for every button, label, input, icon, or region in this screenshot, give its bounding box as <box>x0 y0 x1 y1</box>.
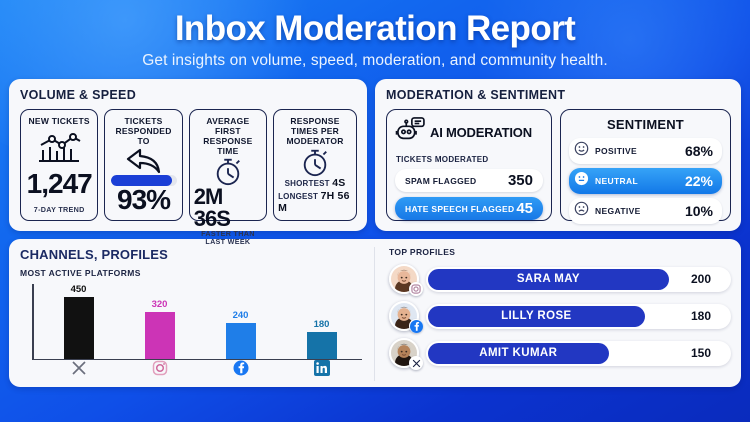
chart-x-labels <box>38 360 362 376</box>
sentiment-card: SENTIMENT POSITIVE 68% <box>560 109 731 221</box>
moderation-sentiment-title: MODERATION & SENTIMENT <box>386 88 731 102</box>
bar <box>145 312 175 359</box>
sentiment-row-positive[interactable]: POSITIVE 68% <box>569 138 722 164</box>
linkedin-icon <box>281 360 362 376</box>
profile-bar[interactable]: AMIT KUMAR150 <box>426 341 731 366</box>
bar-column[interactable]: 320 <box>119 284 200 359</box>
profiles-list: SARA MAY200LILLY ROSE180AMIT KUMAR150 <box>389 264 731 368</box>
reply-arrow-icon <box>122 146 166 174</box>
bar <box>307 332 337 359</box>
response-progress-fill <box>111 175 172 186</box>
smiley-neutral-icon <box>574 171 589 191</box>
profile-bar[interactable]: LILLY ROSE180 <box>426 304 731 329</box>
profile-bar[interactable]: SARA MAY200 <box>426 267 731 292</box>
kpi-tickets-responded-label: TICKETS RESPONDED TO <box>109 116 177 146</box>
profile-value: 180 <box>691 309 711 323</box>
ai-moderation-card: AI MODERATION TICKETS MODERATED SPAM FLA… <box>386 109 552 221</box>
profile-name: AMIT KUMAR <box>428 343 609 364</box>
bar-value-label: 450 <box>71 284 87 295</box>
avatar <box>389 264 419 294</box>
tickets-moderated-label: TICKETS MODERATED <box>396 155 543 164</box>
hate-speech-flagged-value: 45 <box>516 200 533 217</box>
kpi-tickets-responded-value: 93% <box>117 186 170 214</box>
volume-speed-title: VOLUME & SPEED <box>20 88 357 102</box>
top-profiles-title: TOP PROFILES <box>389 247 731 257</box>
moderation-sentiment-panel: MODERATION & SENTIMENT <box>375 79 741 231</box>
top-row: VOLUME & SPEED NEW TICKETS <box>9 79 741 231</box>
x-icon <box>38 360 119 376</box>
bar-column[interactable]: 180 <box>281 284 362 359</box>
sentiment-positive-label: POSITIVE <box>595 146 685 156</box>
kpi-new-tickets-value: 1,247 <box>27 170 92 198</box>
ai-moderation-title: AI MODERATION <box>430 125 532 140</box>
robot-icon <box>395 117 425 148</box>
channels-section: CHANNELS, PROFILES MOST ACTIVE PLATFORMS… <box>20 247 375 381</box>
stopwatch-icon <box>211 156 245 186</box>
sentiment-neutral-value: 22% <box>685 173 713 189</box>
kpi-list: NEW TICKETS <box>20 109 357 221</box>
x-icon <box>409 356 423 370</box>
profile-value: 150 <box>691 346 711 360</box>
profile-value: 200 <box>691 272 711 286</box>
profile-row[interactable]: LILLY ROSE180 <box>389 301 731 331</box>
instagram-icon <box>119 360 200 376</box>
chart-y-axis <box>32 284 34 360</box>
hate-speech-flagged-row[interactable]: HATE SPEECH FLAGGED 45 <box>395 197 543 220</box>
sentiment-positive-value: 68% <box>685 143 713 159</box>
kpi-first-response-value: 2M 36S <box>194 186 262 230</box>
page-title: Inbox Moderation Report <box>0 9 750 49</box>
stopwatch-icon <box>298 147 332 177</box>
longest-label: LONGEST <box>278 192 318 201</box>
volume-speed-panel: VOLUME & SPEED NEW TICKETS <box>9 79 367 231</box>
sentiment-row-neutral[interactable]: NEUTRAL 22% <box>569 168 722 194</box>
sentiment-negative-label: NEGATIVE <box>595 206 685 216</box>
kpi-new-tickets[interactable]: NEW TICKETS <box>20 109 98 221</box>
kpi-response-per-moderator[interactable]: RESPONSE TIMES PER MODERATOR <box>273 109 357 221</box>
bar <box>64 297 94 359</box>
bar <box>226 323 256 359</box>
kpi-first-response-sub: FASTER THAN LAST WEEK <box>194 230 262 247</box>
kpi-first-response-time[interactable]: AVERAGE FIRST RESPONSE TIME <box>189 109 267 221</box>
profile-row[interactable]: AMIT KUMAR150 <box>389 338 731 368</box>
avatar <box>389 301 419 331</box>
platforms-bar-chart: 450320240180 <box>20 282 366 374</box>
smiley-negative-icon <box>574 201 589 221</box>
shortest-label: SHORTEST <box>285 179 330 188</box>
moderation-cards: AI MODERATION TICKETS MODERATED SPAM FLA… <box>386 109 731 221</box>
channels-title: CHANNELS, PROFILES <box>20 247 366 262</box>
bar-value-label: 240 <box>233 310 249 321</box>
sentiment-negative-value: 10% <box>685 203 713 219</box>
spam-flagged-label: SPAM FLAGGED <box>405 176 476 186</box>
bar-value-label: 180 <box>314 319 330 330</box>
facebook-icon <box>409 319 423 333</box>
kpi-new-tickets-label: NEW TICKETS <box>29 116 90 126</box>
facebook-icon <box>200 360 281 376</box>
shortest-row: SHORTEST 4S <box>285 177 346 189</box>
page-subtitle: Get insights on volume, speed, moderatio… <box>0 52 750 70</box>
response-progress-bar <box>111 175 177 186</box>
sentiment-row-negative[interactable]: NEGATIVE 10% <box>569 198 722 224</box>
bar-column[interactable]: 450 <box>38 284 119 359</box>
spam-flagged-row[interactable]: SPAM FLAGGED 350 <box>395 169 543 192</box>
bar-column[interactable]: 240 <box>200 284 281 359</box>
kpi-response-per-moderator-label: RESPONSE TIMES PER MODERATOR <box>278 116 352 146</box>
kpi-new-tickets-sub: 7-DAY TREND <box>34 206 85 214</box>
chart-bars: 450320240180 <box>38 284 362 359</box>
bottom-row: CHANNELS, PROFILES MOST ACTIVE PLATFORMS… <box>9 239 741 387</box>
shortest-value: 4S <box>332 177 345 189</box>
profile-name: LILLY ROSE <box>428 306 645 327</box>
spam-flagged-value: 350 <box>508 172 533 189</box>
kpi-first-response-label: AVERAGE FIRST RESPONSE TIME <box>194 116 262 156</box>
ai-moderation-header: AI MODERATION <box>395 117 543 148</box>
sentiment-title: SENTIMENT <box>607 117 684 132</box>
longest-row: LONGEST 7H 56 M <box>278 190 352 214</box>
bar-value-label: 320 <box>152 299 168 310</box>
sentiment-neutral-label: NEUTRAL <box>595 176 685 186</box>
profile-name: SARA MAY <box>428 269 669 290</box>
channels-profiles-panel: CHANNELS, PROFILES MOST ACTIVE PLATFORMS… <box>9 239 741 387</box>
report-header: Inbox Moderation Report Get insights on … <box>0 0 750 70</box>
dashboard-grid: VOLUME & SPEED NEW TICKETS <box>0 70 750 387</box>
most-active-platforms-label: MOST ACTIVE PLATFORMS <box>20 268 366 278</box>
smiley-positive-icon <box>574 141 589 161</box>
kpi-tickets-responded[interactable]: TICKETS RESPONDED TO 93% <box>104 109 182 221</box>
instagram-icon <box>409 282 423 296</box>
profile-row[interactable]: SARA MAY200 <box>389 264 731 294</box>
top-profiles-section: TOP PROFILES SARA MAY200LILLY ROSE180AMI… <box>375 247 731 381</box>
hate-speech-flagged-label: HATE SPEECH FLAGGED <box>405 204 514 214</box>
avatar <box>389 338 419 368</box>
bar-line-chart-icon <box>35 133 83 163</box>
